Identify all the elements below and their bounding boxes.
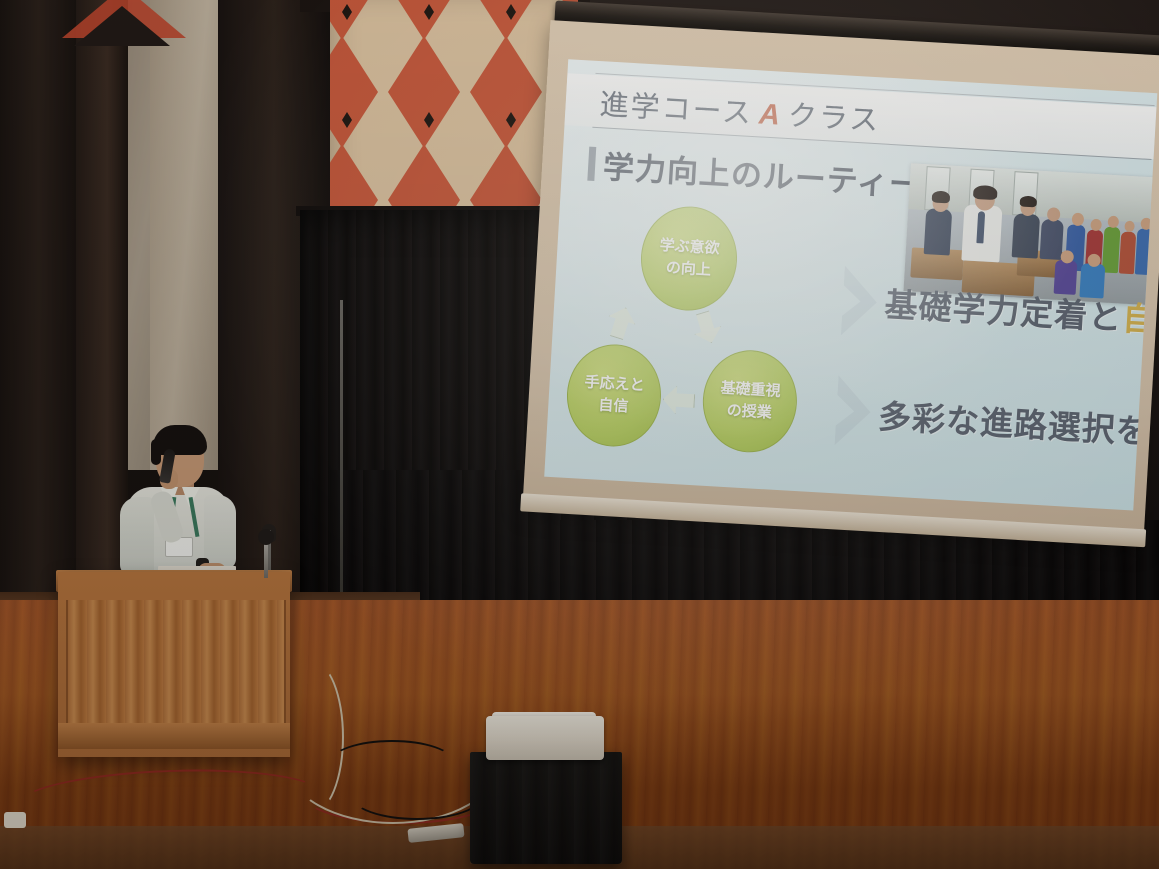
- slide-subtitle: 学力向上のルーティーン: [602, 142, 953, 207]
- presenter-right-arm: [204, 495, 236, 569]
- presenter-hair: [153, 425, 207, 455]
- dark-beam-left: [0, 0, 86, 640]
- presentation-photo-scene: 進学コースAクラス 学力向上のルーティーン: [0, 0, 1159, 869]
- slide-message-2-text: 多彩な進路選択を: [877, 398, 1151, 451]
- cycle-node-top: 学ぶ意欲 の向上: [638, 204, 740, 313]
- cycle-node-bl-line2: 自信: [598, 395, 629, 418]
- cycle-arrow-down-icon: [689, 308, 725, 347]
- slide-subtitle-group: 学力向上のルーティーン: [587, 141, 953, 207]
- concrete-wall-slab-highlight: [150, 0, 225, 470]
- subtitle-bar-marker: [587, 146, 596, 180]
- podium-slat-panel: [66, 600, 286, 723]
- slide-message-2: 多彩な進路選択を実: [877, 390, 1157, 456]
- slide-message-1-emphasis: 自信: [1121, 300, 1157, 341]
- cycle-arrow-left-icon: [662, 385, 696, 415]
- presenter-hair-side: [151, 439, 161, 465]
- floor-mic-stand-pole: [340, 300, 343, 600]
- screen-surface: 進学コースAクラス 学力向上のルーティーン: [522, 20, 1159, 545]
- black-cable-loop: [350, 770, 484, 820]
- cycle-node-bottom-left: 手応えと 自信: [564, 342, 664, 449]
- projected-slide: 進学コースAクラス 学力向上のルーティーン: [544, 59, 1157, 510]
- projector: [486, 716, 604, 760]
- podium-microphone: [258, 529, 274, 545]
- slide-title-suffix: クラス: [787, 100, 881, 137]
- cycle-node-top-line2: の向上: [665, 257, 711, 281]
- cycle-node-bottom-right: 基礎重視 の授業: [700, 348, 800, 455]
- presenter: [112, 425, 240, 580]
- cycle-node-br-line2: の授業: [726, 400, 772, 424]
- cycle-arrow-up-icon: [603, 303, 639, 342]
- presenter-left-arm: [120, 497, 154, 575]
- slide-message-1-text: 基礎学力定着と: [884, 286, 1124, 337]
- table-drape-folds: [470, 752, 622, 864]
- projection-screen: 進学コースAクラス 学力向上のルーティーン: [515, 0, 1159, 609]
- slide-title-prefix: 進学コース: [599, 89, 754, 130]
- red-chevron-inner: [74, 6, 170, 46]
- routine-cycle-diagram: 学ぶ意欲 の向上 基礎重視 の授業 手応えと 自信: [563, 200, 858, 486]
- slide-title-accent: A: [752, 98, 789, 132]
- cycle-node-bl-line1: 手応えと: [584, 372, 645, 397]
- white-plug: [4, 812, 26, 828]
- podium-base-molding: [58, 723, 290, 749]
